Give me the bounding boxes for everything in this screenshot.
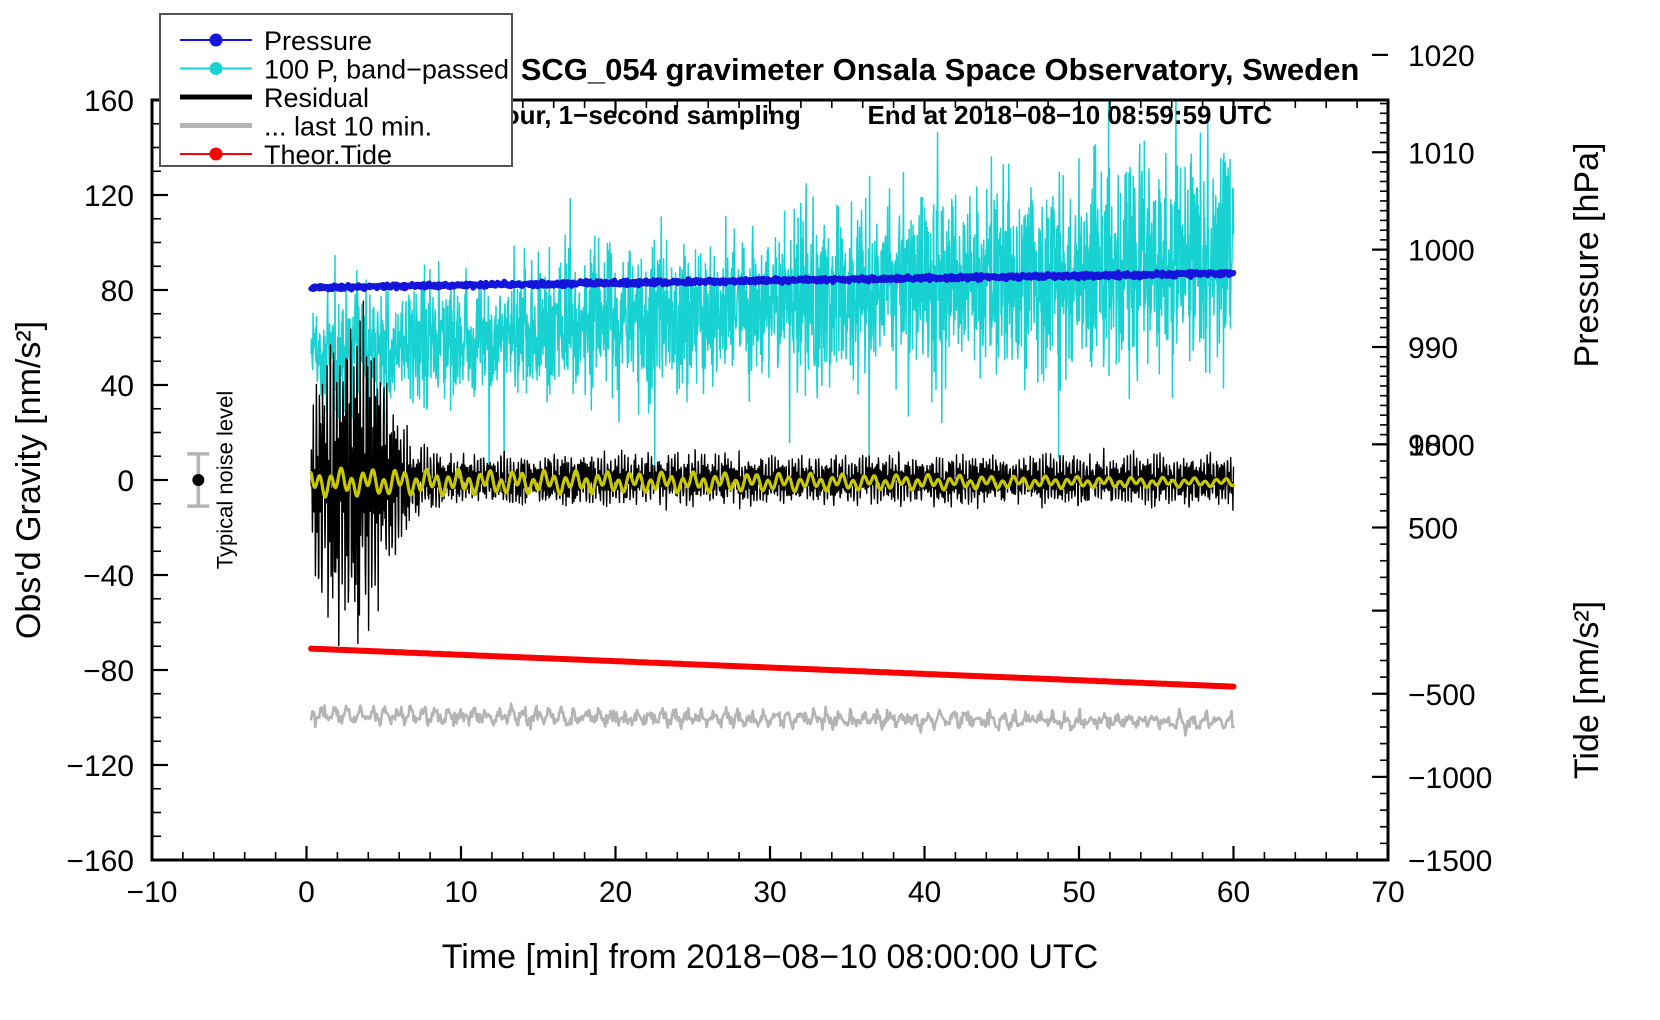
legend-layer[interactable]: Pressure100 P, band−passedResidual... la… — [160, 14, 512, 170]
noise-level-label: Typical noise level — [212, 391, 237, 570]
pressure-tick-label: 1020 — [1408, 40, 1475, 73]
gravimeter-timeseries-plot: −10010203040506070Time [min] from 2018−0… — [0, 0, 1660, 1020]
tide-tick-label: −1500 — [1408, 845, 1492, 878]
x-axis-title: Time [min] from 2018−08−10 08:00:00 UTC — [442, 938, 1098, 976]
legend-label: ... last 10 min. — [264, 112, 432, 142]
end-time-note: End at 2018−08−10 08:59:59 UTC — [867, 100, 1272, 130]
tide-tick-label: −500 — [1408, 679, 1476, 712]
legend-label: Theor.Tide — [264, 140, 392, 170]
pressure-axis-title-group: Pressure [hPa] — [1568, 143, 1606, 368]
y-tick-label: −40 — [83, 560, 134, 593]
pressure-tick-label: 1000 — [1408, 235, 1475, 268]
y-tick-label: −80 — [83, 655, 134, 688]
chart-title: SCG_054 gravimeter Onsala Space Observat… — [521, 52, 1360, 87]
y-tick-label: −160 — [66, 845, 134, 878]
x-tick-label: 10 — [444, 876, 477, 909]
y-tick-label: 0 — [117, 465, 134, 498]
y-tick-label: 80 — [101, 275, 134, 308]
tide-tick-label: 1000 — [1408, 429, 1475, 462]
x-tick-label: −10 — [127, 876, 178, 909]
y-tick-label: 40 — [101, 370, 134, 403]
x-tick-label: 70 — [1371, 876, 1404, 909]
y-axis-title: Obs'd Gravity [nm/s²] — [10, 321, 48, 639]
tide-tick-label: 500 — [1408, 513, 1458, 546]
noise-label-group: Typical noise level — [212, 391, 237, 570]
legend-label: 100 P, band−passed — [264, 55, 509, 85]
y-tick-label: −120 — [66, 750, 134, 783]
legend-label: Pressure — [264, 26, 372, 56]
tide-tick-label: −1000 — [1408, 762, 1492, 795]
legend-swatch-marker — [210, 34, 223, 47]
x-tick-label: 60 — [1217, 876, 1250, 909]
pressure-tick-label: 990 — [1408, 332, 1458, 365]
x-tick-label: 0 — [298, 876, 315, 909]
chart-canvas: −10010203040506070Time [min] from 2018−0… — [0, 0, 1660, 1020]
x-tick-label: 30 — [753, 876, 786, 909]
x-tick-label: 20 — [599, 876, 632, 909]
x-tick-label: 50 — [1062, 876, 1095, 909]
pressure-tick-label: 1010 — [1408, 137, 1475, 170]
legend-label: Residual — [264, 83, 369, 113]
pressure-axis-title: Pressure [hPa] — [1568, 143, 1606, 368]
x-tick-label: 40 — [908, 876, 941, 909]
tide-axis-title: Tide [nm/s²] — [1568, 601, 1606, 779]
y-tick-label: 160 — [84, 85, 134, 118]
tide-axis-title-group: Tide [nm/s²] — [1568, 601, 1606, 779]
legend-swatch-marker — [210, 62, 223, 75]
noise-errorbar-dot — [192, 474, 204, 486]
y-tick-label: 120 — [84, 180, 134, 213]
y-axis-title-group: Obs'd Gravity [nm/s²] — [10, 321, 48, 639]
legend-swatch-marker — [210, 148, 223, 161]
